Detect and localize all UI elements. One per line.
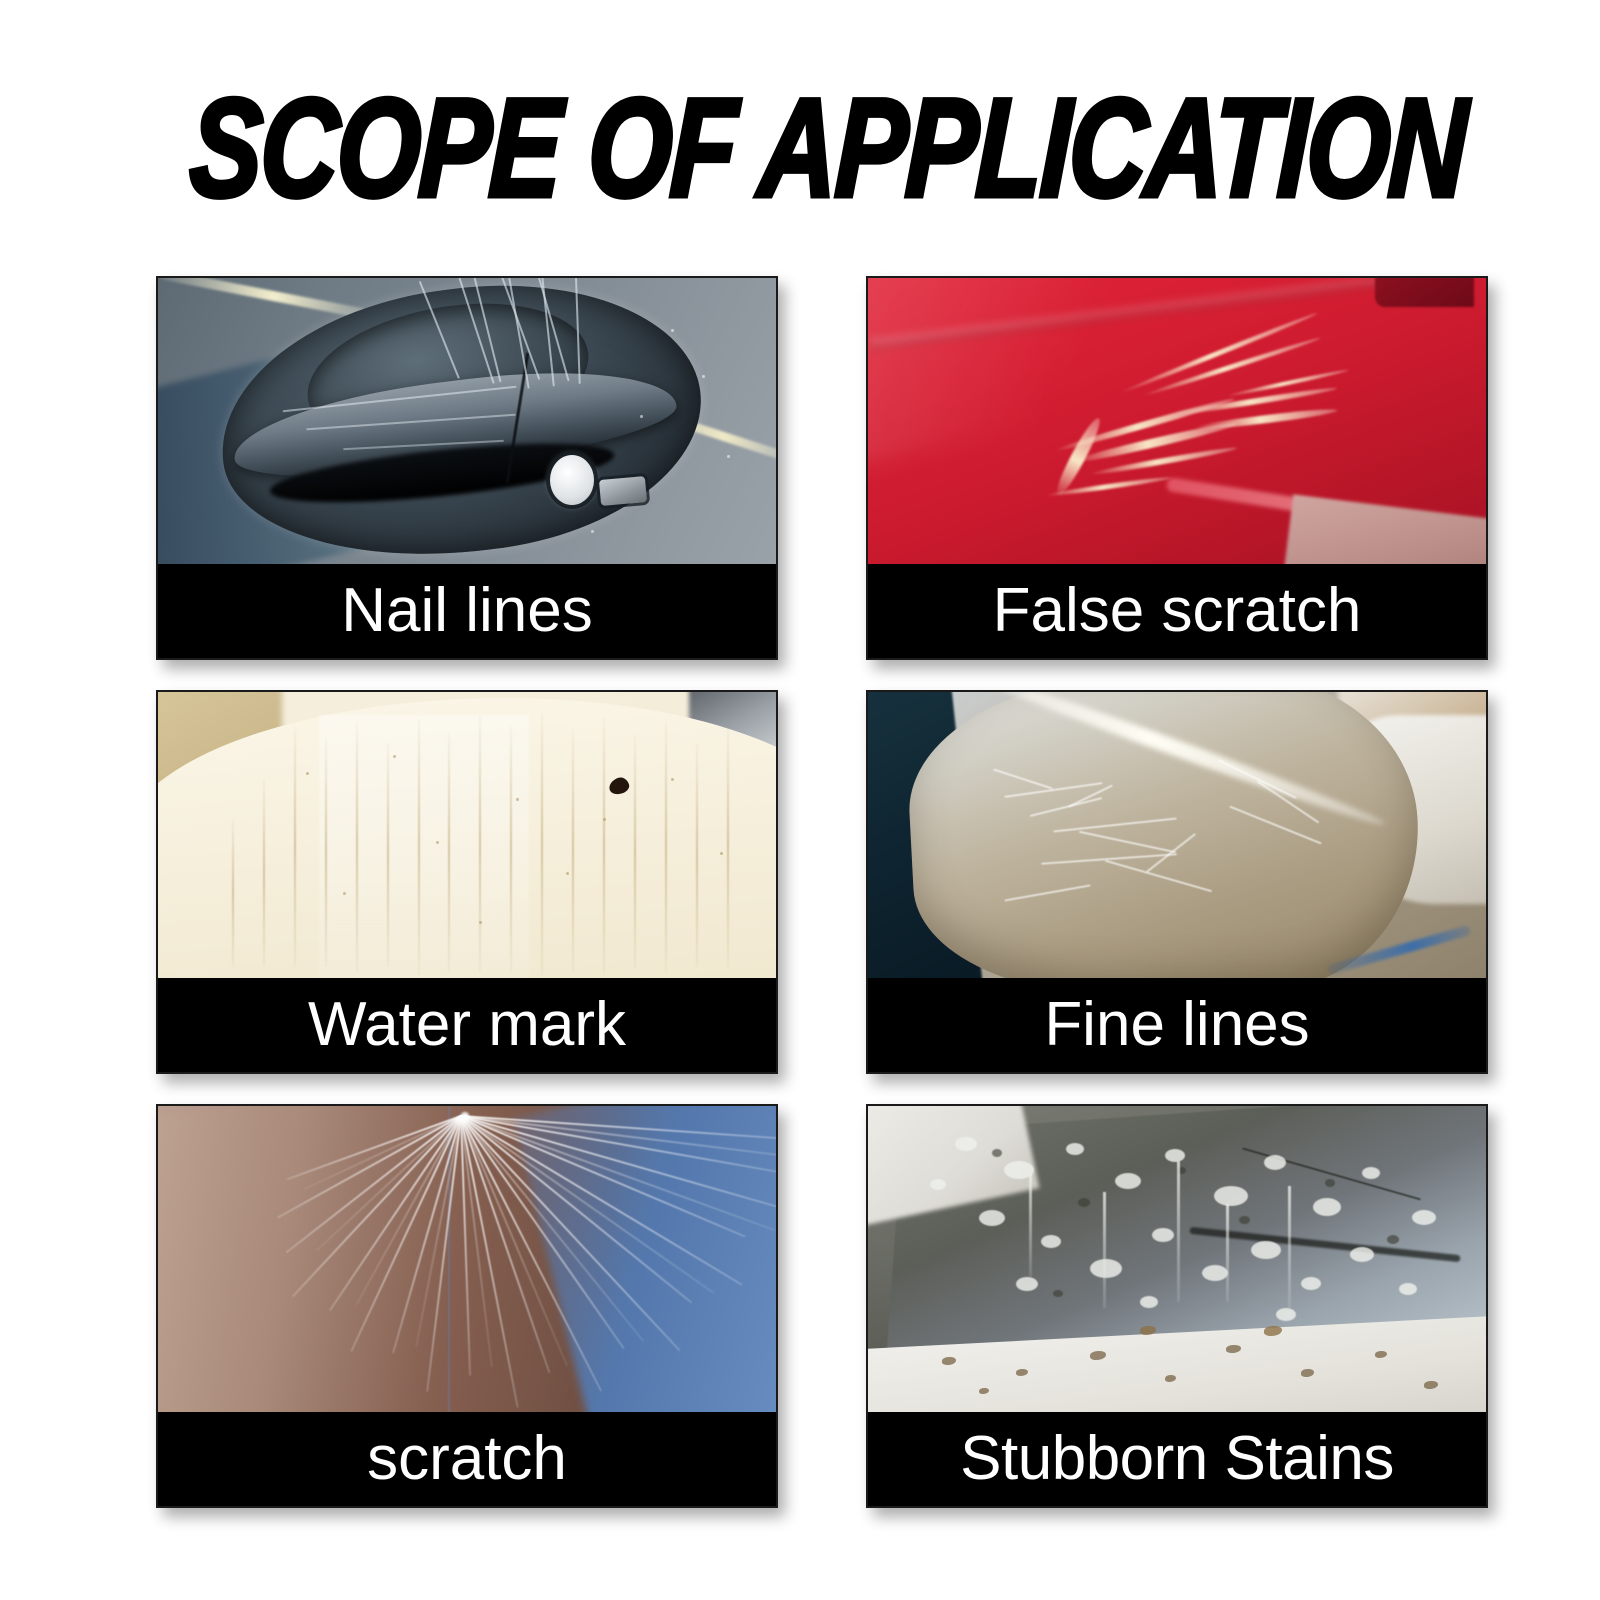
card-label-band: False scratch [868, 564, 1486, 658]
scope-card-false-scratch[interactable]: False scratch [866, 276, 1488, 660]
radiating-scratches-photo [158, 1106, 776, 1412]
dripping-stain [1177, 1161, 1180, 1302]
bird-dropping-spot [1066, 1143, 1084, 1155]
water-streak [727, 726, 729, 966]
water-streak [696, 743, 698, 966]
scope-card-nail-lines[interactable]: Nail lines [156, 276, 778, 660]
water-spot [671, 778, 674, 781]
mirror-cap-photo [868, 692, 1486, 978]
hood-light-panel [319, 715, 529, 978]
bird-dropping-spot [1350, 1247, 1374, 1262]
highlight-streak-top [159, 278, 367, 319]
card-label-band: scratch [158, 1412, 776, 1506]
card-label: False scratch [993, 580, 1362, 642]
card-label-band: Fine lines [868, 978, 1486, 1072]
water-streak [665, 721, 667, 973]
scope-card-water-mark[interactable]: Water mark [156, 690, 778, 1074]
bird-dropping-spot [1313, 1198, 1341, 1216]
card-label-band: Nail lines [158, 564, 776, 658]
card-label: Fine lines [1044, 994, 1309, 1056]
dirt-spot [992, 1149, 1002, 1157]
car-door-handle-photo [158, 278, 776, 564]
door-notch [1375, 278, 1474, 307]
water-streak [294, 726, 296, 966]
card-label: Water mark [308, 994, 626, 1056]
water-streak [387, 743, 389, 966]
dripping-stain [1288, 1186, 1291, 1308]
chrome-tab-icon [599, 476, 647, 506]
dripping-stain [1103, 1192, 1106, 1308]
red-car-panel-photo [868, 278, 1486, 564]
water-streak [541, 712, 543, 975]
paint-speck [702, 375, 705, 378]
hood-debris [1375, 1351, 1387, 1358]
dripping-stain [1029, 1173, 1032, 1277]
water-spot [436, 841, 439, 844]
water-spot [393, 755, 396, 758]
water-streak [418, 718, 420, 975]
scope-card-stubborn-stains[interactable]: Stubborn Stains [866, 1104, 1488, 1508]
bird-dropping-spot [1202, 1265, 1228, 1281]
page-title: SCOPE OF APPLICATION [188, 78, 1469, 218]
paint-speck [671, 329, 674, 332]
paint-speck [591, 530, 594, 533]
dripping-stain [1226, 1204, 1229, 1302]
card-label: Nail lines [341, 580, 593, 642]
bird-dropping-spot [1214, 1186, 1248, 1206]
paint-speck [727, 455, 730, 458]
dirt-spot [1053, 1290, 1063, 1297]
card-label: Stubborn Stains [960, 1428, 1394, 1490]
scope-card-scratch[interactable]: scratch [156, 1104, 778, 1508]
ground-background [1285, 494, 1486, 564]
card-label: scratch [367, 1428, 567, 1490]
water-streak [356, 721, 358, 973]
application-scope-grid: Nail lines False scratch [156, 276, 1488, 1508]
bird-dropping-spot [1412, 1210, 1436, 1225]
dirt-spot [1239, 1216, 1250, 1224]
card-label-band: Stubborn Stains [868, 1412, 1486, 1506]
bird-dropping-spot [1276, 1308, 1296, 1321]
page-header: SCOPE OF APPLICATION [0, 78, 1600, 218]
car-hood-water-mark-photo [158, 692, 776, 978]
bird-dropping-spot [1165, 1149, 1185, 1162]
dirt-spot [1387, 1235, 1399, 1244]
bird-dropping-spot [1264, 1155, 1286, 1170]
bird-dropping-spot [1251, 1241, 1281, 1259]
card-label-band: Water mark [158, 978, 776, 1072]
bird-dropping-spot [1041, 1235, 1061, 1248]
water-streak [325, 738, 327, 967]
bird-dropping-spot [955, 1137, 977, 1151]
water-spot [603, 818, 606, 821]
bird-dropping-spot [1140, 1296, 1158, 1308]
water-streak [572, 729, 574, 972]
water-streak [448, 732, 450, 972]
dirt-spot [1078, 1198, 1090, 1207]
water-streak [263, 778, 265, 967]
water-streak [510, 726, 512, 972]
water-streak [479, 715, 481, 972]
hood-debris [979, 1388, 989, 1394]
scope-card-fine-lines[interactable]: Fine lines [866, 690, 1488, 1074]
dirty-windshield-photo [868, 1106, 1486, 1412]
water-streak [603, 718, 605, 975]
water-streak [232, 818, 234, 967]
water-streak [634, 735, 636, 970]
